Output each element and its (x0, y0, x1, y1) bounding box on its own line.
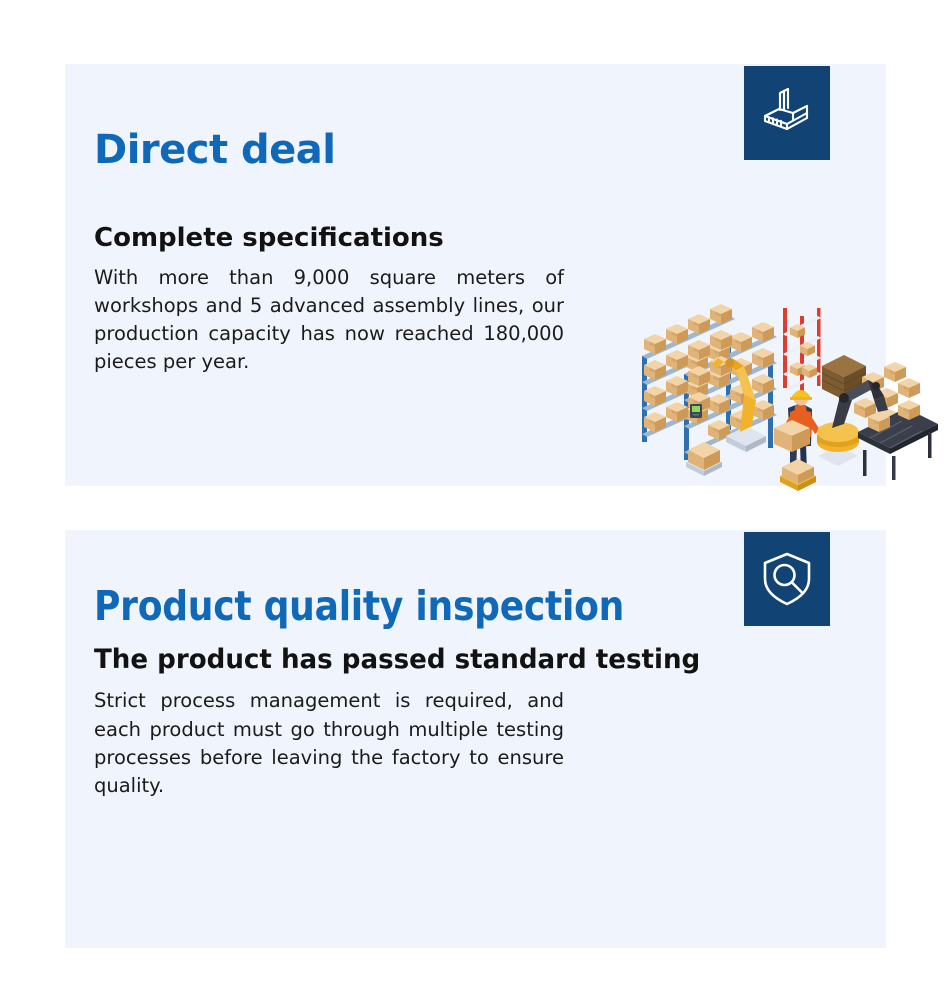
shield-magnifier-icon (759, 550, 815, 608)
card-subtitle: Complete specifications (94, 224, 564, 254)
shield-magnifier-icon-badge (744, 532, 830, 626)
card-subtitle-2: The product has passed standard testing (94, 645, 557, 675)
card-product-quality-text: Product quality inspection The product h… (94, 530, 564, 800)
card-product-quality-inspection: Product quality inspection The product h… (65, 530, 886, 948)
card-body-text-2: Strict process management is required, a… (94, 687, 564, 799)
rounded-rectangle-outline-icon-inner (455, 0, 471, 8)
card-body-text: With more than 9,000 square meters of wo… (94, 264, 564, 376)
factory-icon (757, 83, 817, 143)
page-title: Direct deal (94, 130, 564, 170)
factory-icon-badge (744, 66, 830, 160)
card-direct-deal: Direct deal Complete specifications With… (65, 64, 886, 486)
card-direct-deal-text: Direct deal Complete specifications With… (94, 64, 564, 376)
isometric-warehouse-illustration (640, 304, 940, 499)
promotional-banner: Direct deal Complete specifications With… (0, 0, 950, 988)
page-title-2: Product quality inspection (94, 586, 508, 627)
